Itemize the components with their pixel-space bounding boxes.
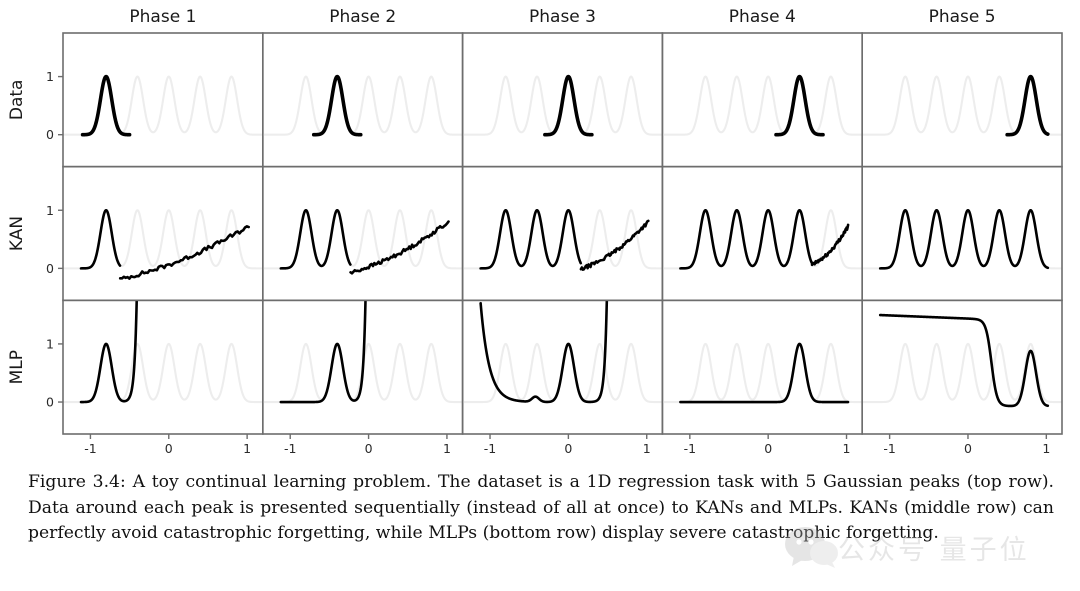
- panel-data-phase-5: [862, 77, 1062, 135]
- x-tick-label-phase1-1: 0: [165, 441, 173, 456]
- panel-kan-phase-2: [263, 210, 463, 273]
- x-tick-label-phase2-2: 1: [443, 441, 451, 456]
- caption-text: A toy continual learning problem. The da…: [28, 472, 1054, 543]
- panel-kan-phase-3: [463, 210, 663, 269]
- column-title-phase-4: Phase 4: [729, 7, 796, 27]
- x-tick-label-phase4-1: 0: [764, 441, 772, 456]
- panel-kan-phase-5: [862, 210, 1062, 268]
- figure-panel-grid: 01DataPhase 1Phase 2Phase 3Phase 4Phase …: [0, 0, 1080, 466]
- row-label-mlp: MLP: [7, 350, 27, 384]
- y-tick-label-mlp-1: 1: [46, 336, 54, 351]
- y-tick-label-data-0: 0: [46, 127, 54, 142]
- x-tick-label-phase5-2: 1: [1042, 441, 1050, 456]
- panel-data-phase-1: [63, 77, 263, 135]
- panel-kan-phase-4: [662, 210, 862, 268]
- figure-caption: Figure 3.4: A toy continual learning pro…: [28, 470, 1054, 547]
- panel-mlp-phase-1: [63, 286, 263, 402]
- x-tick-label-phase3-0: -1: [484, 441, 496, 456]
- x-tick-label-phase2-1: 0: [365, 441, 373, 456]
- y-tick-label-kan-1: 1: [46, 203, 54, 218]
- row-label-data: Data: [7, 80, 27, 121]
- y-tick-label-kan-0: 0: [46, 261, 54, 276]
- x-tick-label-phase5-0: -1: [883, 441, 895, 456]
- panel-data-phase-3: [463, 77, 663, 135]
- panel-mlp-phase-3: [463, 286, 663, 402]
- panel-kan-phase-1: [63, 210, 263, 278]
- column-title-phase-5: Phase 5: [929, 7, 996, 27]
- panel-mlp-phase-4: [662, 344, 862, 402]
- column-title-phase-3: Phase 3: [529, 7, 596, 27]
- x-tick-label-phase1-0: -1: [84, 441, 96, 456]
- figure-svg: 01DataPhase 1Phase 2Phase 3Phase 4Phase …: [0, 0, 1080, 466]
- panel-data-phase-2: [263, 77, 463, 135]
- x-tick-label-phase2-0: -1: [284, 441, 296, 456]
- panel-data-phase-4: [662, 77, 862, 135]
- x-tick-label-phase1-2: 1: [243, 441, 251, 456]
- x-tick-label-phase3-2: 1: [643, 441, 651, 456]
- column-title-phase-1: Phase 1: [129, 7, 196, 27]
- x-tick-label-phase5-1: 0: [964, 441, 972, 456]
- panel-mlp-phase-2: [263, 286, 463, 402]
- row-label-kan: KAN: [7, 216, 27, 251]
- y-tick-label-data-1: 1: [46, 69, 54, 84]
- panel-mlp-phase-5: [862, 315, 1062, 406]
- x-tick-label-phase3-1: 0: [564, 441, 572, 456]
- x-tick-label-phase4-2: 1: [843, 441, 851, 456]
- column-title-phase-2: Phase 2: [329, 7, 396, 27]
- y-tick-label-mlp-0: 0: [46, 395, 54, 410]
- figure-number: Figure 3.4:: [28, 472, 126, 492]
- x-tick-label-phase4-0: -1: [684, 441, 696, 456]
